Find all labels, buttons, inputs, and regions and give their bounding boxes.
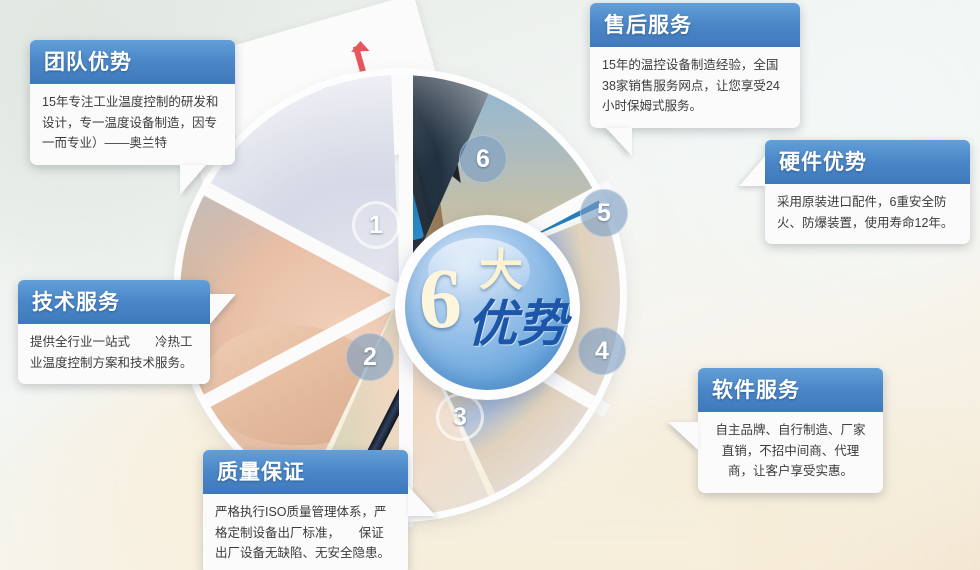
number-badge-3[interactable]: 3	[436, 393, 484, 441]
card-body-software: 自主品牌、自行制造、厂家直销，不招中间商、代理商，让客户享受实惠。	[698, 412, 883, 493]
callout-tail	[180, 165, 206, 195]
callout-card-quality[interactable]: 质量保证 严格执行ISO质量管理体系，严格定制设备出厂标准， 保证出厂设备无缺陷…	[203, 450, 408, 570]
number-badge-4[interactable]: 4	[578, 327, 626, 375]
callout-card-team[interactable]: 团队优势 15年专注工业温度控制的研发和设计，专一温度设备制造，因专一而专业）—…	[30, 40, 235, 165]
number-badge-1[interactable]: 1	[352, 201, 400, 249]
callout-card-after-sales[interactable]: 售后服务 15年的温控设备制造经验，全国38家销售服务网点，让您享受24小时保姆…	[590, 3, 800, 128]
number-badge-2[interactable]: 2	[346, 333, 394, 381]
callout-tail	[606, 128, 632, 156]
callout-tail	[210, 294, 236, 324]
card-title-technical: 技术服务	[18, 280, 210, 324]
card-body-technical: 提供全行业一站式 冷热工业温度控制方案和技术服务。	[18, 324, 210, 384]
card-title-after-sales: 售后服务	[590, 3, 800, 47]
callout-card-technical[interactable]: 技术服务 提供全行业一站式 冷热工业温度控制方案和技术服务。	[18, 280, 210, 384]
card-title-hardware: 硬件优势	[765, 140, 970, 184]
card-body-hardware: 采用原装进口配件，6重安全防火、防爆装置，使用寿命12年。	[765, 184, 970, 244]
number-badge-5[interactable]: 5	[580, 189, 628, 237]
callout-card-hardware[interactable]: 硬件优势 采用原装进口配件，6重安全防火、防爆装置，使用寿命12年。	[765, 140, 970, 244]
card-title-quality: 质量保证	[203, 450, 408, 494]
center-badge-number: 6	[419, 255, 462, 341]
card-title-team: 团队优势	[30, 40, 235, 84]
center-badge-inner: 6 大 优势	[405, 225, 570, 390]
callout-tail	[739, 156, 765, 186]
callout-tail	[668, 422, 698, 450]
card-title-software: 软件服务	[698, 368, 883, 412]
callout-card-software[interactable]: 软件服务 自主品牌、自行制造、厂家直销，不招中间商、代理商，让客户享受实惠。	[698, 368, 883, 493]
card-body-quality: 严格执行ISO质量管理体系，严格定制设备出厂标准， 保证出厂设备无缺陷、无安全隐…	[203, 494, 408, 570]
infographic-canvas: 1 2 3 4 5 6 6 大 优势 团队优势 15年专注工业温度控制的研发和设…	[0, 0, 980, 570]
number-badge-6[interactable]: 6	[459, 135, 507, 183]
card-body-after-sales: 15年的温控设备制造经验，全国38家销售服务网点，让您享受24小时保姆式服务。	[590, 47, 800, 128]
center-badge-label: 优势	[467, 299, 567, 349]
card-body-team: 15年专注工业温度控制的研发和设计，专一温度设备制造，因专一而专业）——奥兰特	[30, 84, 235, 165]
callout-tail	[408, 486, 436, 516]
center-badge-unit: 大	[479, 249, 523, 293]
center-badge[interactable]: 6 大 优势	[395, 215, 580, 400]
